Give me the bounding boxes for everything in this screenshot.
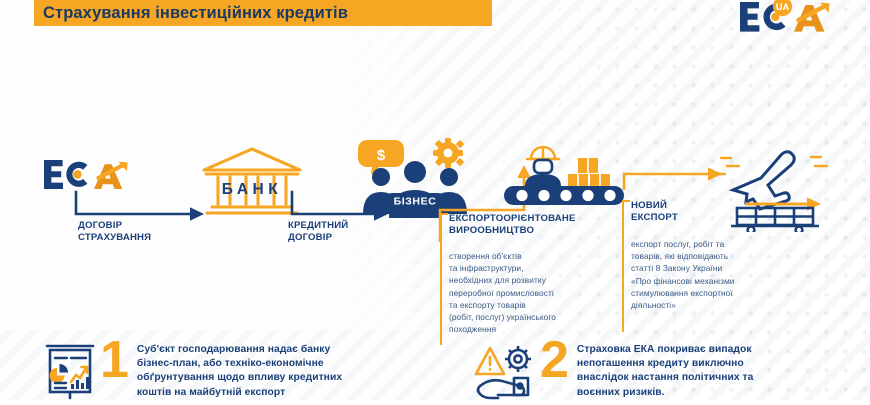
body-line: та експорту товарів [449, 299, 610, 311]
label-line: ДОГОВІР [288, 232, 408, 244]
bracket-decoration [622, 200, 630, 332]
info-block-new-export: НОВИЙ ЕКСПОРТ експорт послуг, робіт та т… [622, 200, 808, 330]
step-text: Суб'єкт господарювання надає банку бізне… [137, 340, 342, 400]
flow-node-production [500, 142, 628, 208]
label-line: СТРАХУВАННЯ [78, 232, 208, 244]
label-credit-contract: КРЕДИТНИЙ ДОГОВІР [288, 220, 408, 244]
dollar-icon: $ [377, 147, 386, 164]
label-line: ДОГОВІР [78, 220, 208, 232]
steps-section: 1 Суб'єкт господарювання надає банку біз… [0, 330, 870, 400]
body-line: діяльності» [631, 299, 808, 311]
step-item-1: 1 Суб'єкт господарювання надає банку біз… [44, 340, 342, 400]
info-block-body: створення об'єктів та інфраструктури, не… [440, 250, 610, 335]
heading-line: ЕКСПОРТ [631, 212, 808, 224]
page-title: Страхування інвестиційних кредитів [34, 4, 348, 23]
bank-caption: БАНК [222, 181, 282, 198]
info-block-heading: ЕКСПОРТООРІЄНТОВАНЕ ВИРООБНИЦТВО [440, 213, 610, 238]
presentation-chart-icon [44, 342, 96, 400]
step-text-line: непогашення кредиту виключно [577, 357, 754, 371]
body-line: «Про фінансові механізми [631, 275, 808, 287]
page-title-banner: Страхування інвестиційних кредитів [34, 0, 492, 26]
gear-icon [505, 346, 531, 372]
heading-line: ВИРООБНИЦТВО [449, 225, 610, 237]
info-block-export-production: ЕКСПОРТООРІЄНТОВАНЕ ВИРООБНИЦТВО створен… [440, 213, 610, 343]
step-text-line: бізнес-план, або техніко-економічне [137, 357, 342, 371]
step-text-line: внаслідок настання політичних та [577, 371, 754, 385]
body-line: експорт послуг, робіт та [631, 238, 808, 250]
eca-logo: UA [734, 0, 852, 42]
process-flow-diagram: ДОГОВІР СТРАХУВАННЯ БАНК [0, 60, 870, 310]
body-line: стимулювання експортної [631, 287, 808, 299]
step-text-line: коштів на майбутній експорт [137, 386, 342, 400]
body-line: товарів, які відповідають [631, 250, 808, 262]
step-text-line: Суб'єкт господарювання надає банку [137, 343, 342, 357]
warning-gear-hand-icon [474, 342, 536, 400]
step-item-2: 2 Страховка ЕКА покриває випадок непогаш… [474, 340, 753, 400]
step-text-line: Страховка ЕКА покриває випадок [577, 343, 754, 357]
warning-triangle-icon [476, 348, 504, 374]
step-text: Страховка ЕКА покриває випадок непогашен… [577, 340, 754, 400]
body-line: та інфраструктури, [449, 262, 610, 274]
conveyor-belt-icon [500, 142, 628, 208]
hand-icon [478, 378, 528, 398]
body-line: переробної промисловості [449, 287, 610, 299]
body-line: створення об'єктів [449, 250, 610, 262]
step-text-line: воєнних ризиків. [577, 386, 754, 400]
step-text-line: обґрунтування щодо впливу кредитних [137, 371, 342, 385]
info-block-body: експорт послуг, робіт та товарів, які ві… [622, 238, 808, 311]
bracket-decoration [440, 213, 448, 345]
info-block-heading: НОВИЙ ЕКСПОРТ [622, 200, 808, 225]
body-line: (робіт, послуг) українського [449, 311, 610, 323]
eca-logo-icon: UA [734, 0, 852, 42]
heading-line: ЕКСПОРТООРІЄНТОВАНЕ [449, 213, 610, 225]
step-number: 1 [100, 337, 129, 385]
heading-line: НОВИЙ [631, 200, 808, 212]
body-line: необхідних для розвитку [449, 274, 610, 286]
connector-factory-to-export [622, 152, 730, 192]
body-line: статті 8 Закону України [631, 262, 808, 274]
label-line: КРЕДИТНИЙ [288, 220, 408, 232]
step-number: 2 [540, 337, 569, 385]
label-insurance-contract: ДОГОВІР СТРАХУВАННЯ [78, 220, 208, 244]
svg-text:UA: UA [776, 1, 790, 12]
business-caption: БІЗНЕС [394, 196, 437, 208]
